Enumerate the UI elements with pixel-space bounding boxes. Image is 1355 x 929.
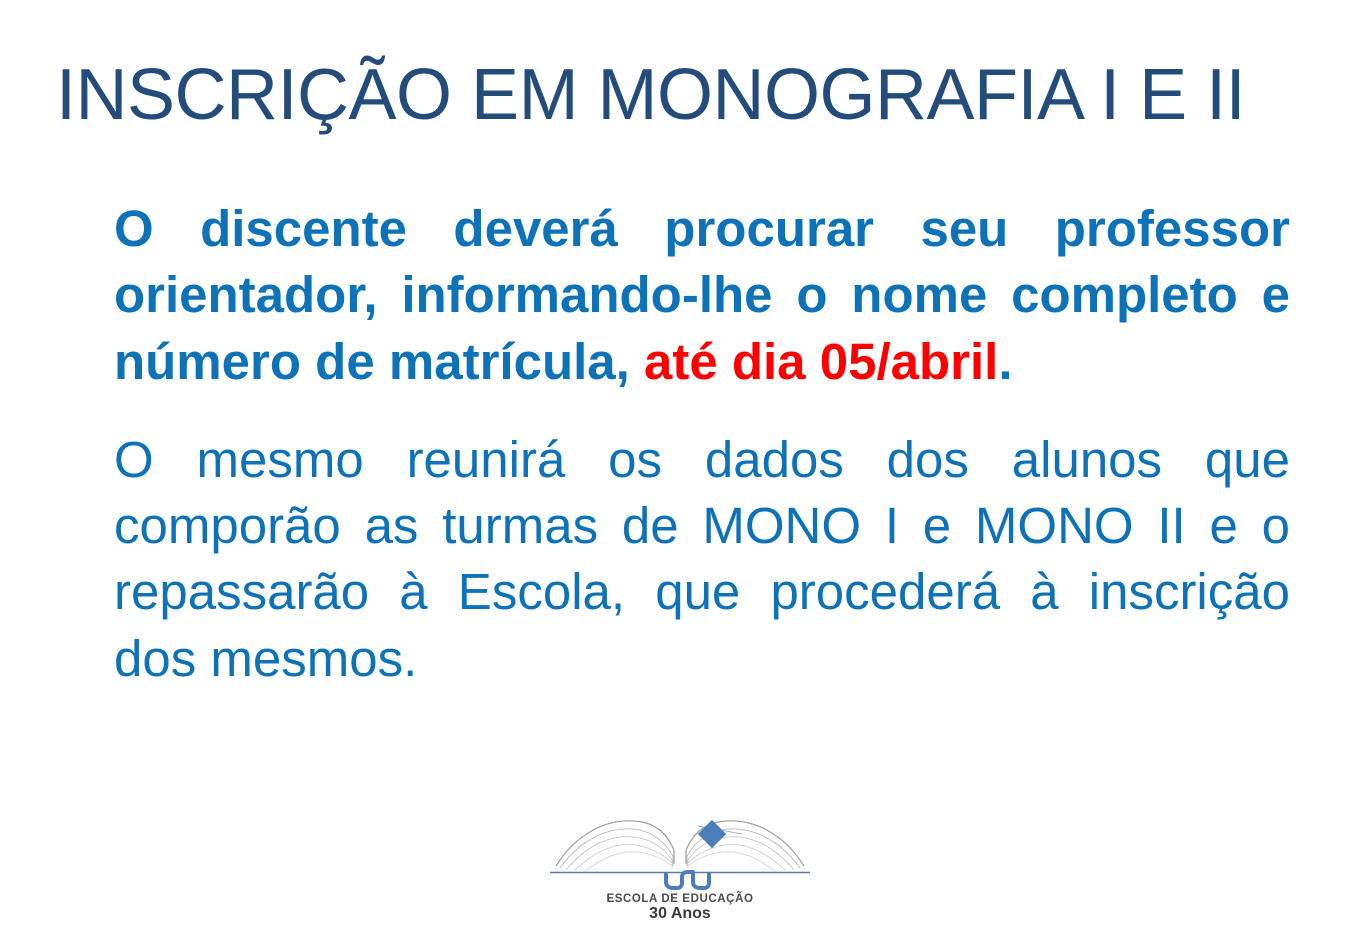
logo-line-1: ESCOLA DE EDUCAÇÃO (606, 892, 753, 905)
paragraph-deadline: O discente deverá procurar seu professor… (114, 196, 1290, 395)
book-clasp (666, 872, 709, 888)
body-text-block: O discente deverá procurar seu professor… (114, 196, 1290, 692)
slide-canvas: INSCRIÇÃO EM MONOGRAFIA I E II O discent… (0, 0, 1355, 929)
page-title: INSCRIÇÃO EM MONOGRAFIA I E II (56, 58, 1306, 134)
book-left-pages (556, 821, 674, 872)
paragraph-deadline-red-part: até dia 05/abril (644, 333, 998, 390)
paragraph-process: O mesmo reunirá os dados dos alunos que … (114, 427, 1290, 692)
logo-line-2: 30 Anos (649, 905, 711, 922)
diamond-accent (698, 820, 726, 848)
escola-de-educacao-logo: ESCOLA DE EDUCAÇÃO 30 Anos (546, 806, 814, 924)
paragraph-deadline-final-period: . (998, 333, 1012, 390)
